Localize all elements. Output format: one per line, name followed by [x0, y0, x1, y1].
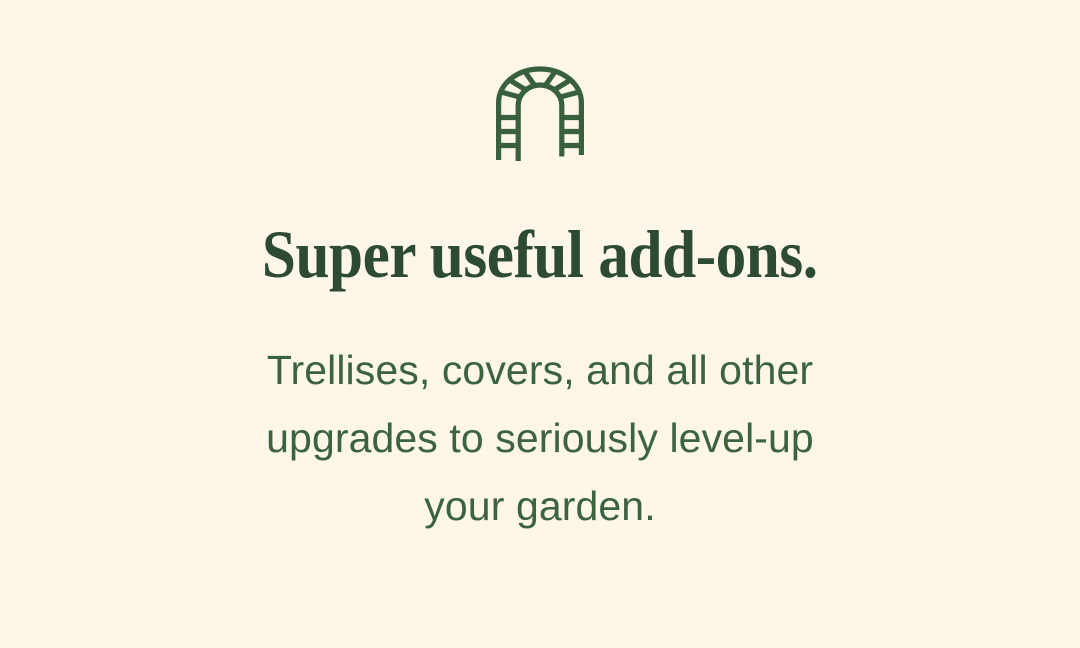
description-line-3: your garden. — [190, 472, 890, 540]
description-text: Trellises, covers, and all other upgrade… — [190, 336, 890, 540]
description-line-1: Trellises, covers, and all other — [190, 336, 890, 404]
promo-panel: Super useful add-ons. Trellises, covers,… — [0, 0, 1080, 648]
page-title: Super useful add-ons. — [262, 220, 818, 288]
garden-arch-icon — [494, 66, 586, 162]
description-line-2: upgrades to seriously level-up — [190, 404, 890, 472]
garden-arch-icon-svg — [494, 66, 586, 162]
